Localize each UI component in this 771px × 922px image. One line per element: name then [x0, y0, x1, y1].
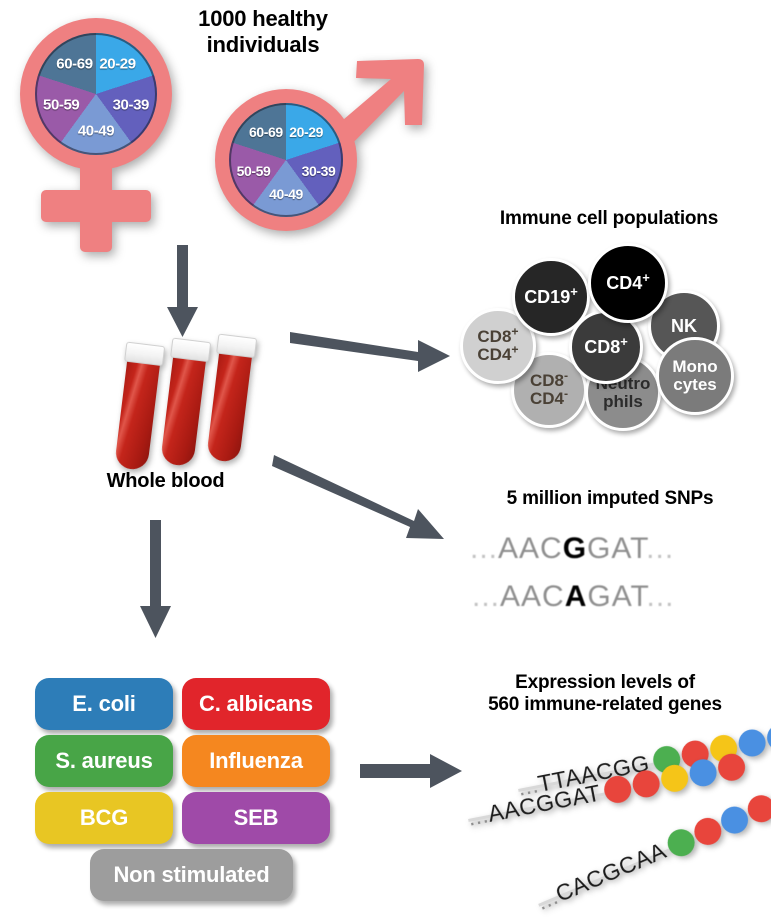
snp-sequences: ...AACGGAT......AACAGAT... [470, 532, 760, 622]
rna-bead-green [651, 744, 683, 776]
stimulant-s-aureus[interactable]: S. aureus [35, 735, 173, 787]
blood-tube-body [206, 348, 252, 463]
age-group-label-50-59: 50-59 [237, 163, 271, 179]
blood-tube-body [114, 356, 160, 471]
cohort-title-line2: individuals [207, 32, 320, 57]
rna-sequence-text: ...TTAACGG [515, 749, 653, 801]
age-group-label-20-29: 20-29 [99, 56, 135, 73]
rna-strand-backbone [468, 790, 616, 822]
rna-bead-red [743, 791, 771, 826]
stimulant-non-stimulated[interactable]: Non stimulated [90, 849, 293, 901]
rna-strand-backbone [518, 760, 666, 792]
immune-cell-label: CD4+ [606, 274, 650, 293]
blood-tube [160, 338, 208, 467]
rna-bead-blue [717, 802, 752, 837]
immune-cell-label: CD8+ [584, 338, 628, 357]
female-symbol-crossbar [41, 190, 151, 222]
age-group-label-60-69: 60-69 [249, 124, 283, 140]
rna-strand: ...CACGCAA [533, 780, 771, 916]
immune-cell-mono: Monocytes [656, 337, 734, 415]
rna-sequence-text: ...AACGGAT [465, 779, 605, 832]
male-symbol: 20-2930-3940-4950-5960-69 [205, 55, 435, 245]
blood-tube-body [160, 352, 206, 467]
rna-bead-red [602, 774, 634, 806]
immune-cell-label: CD19+ [524, 288, 578, 307]
rna-bead-yellow [707, 733, 739, 765]
age-group-label-30-39: 30-39 [302, 163, 336, 179]
rna-strand: ...TTAACGG [515, 722, 771, 802]
snp-right: GAT [587, 532, 646, 565]
immune-cell-cd19-pos: CD19+ [512, 258, 590, 336]
age-group-label-50-59: 50-59 [43, 97, 79, 114]
study-design-figure: 1000 healthy individuals 20-2930-3940-49… [0, 0, 771, 922]
arrow-stimulants-to-expression [360, 752, 475, 792]
expression-title-line1: Expression levels of [515, 672, 695, 693]
immune-cell-cd8-pos: CD8+CD4+ [460, 308, 536, 384]
female-symbol: 20-2930-3940-4950-5960-69 [10, 10, 210, 260]
immune-cell-cd4-pos: CD4+ [588, 243, 668, 323]
immune-cell-label: Monocytes [672, 358, 717, 393]
immune-cell-cd8-pos: CD8+ [569, 310, 643, 384]
blood-tube [206, 334, 254, 463]
age-group-label-60-69: 60-69 [56, 56, 92, 73]
stimulant-e-coli[interactable]: E. coli [35, 678, 173, 730]
rna-strand: ...AACGGAT [465, 751, 747, 831]
stimulant-c-albicans[interactable]: C. albicans [182, 678, 330, 730]
immune-cell-label: NK [671, 317, 697, 336]
snp-suffix: ... [647, 580, 675, 613]
rna-bead-green [663, 825, 698, 860]
snp-variant: A [565, 580, 588, 613]
stimulant-bcg[interactable]: BCG [35, 792, 173, 844]
female-age-pie: 20-2930-3940-4950-5960-69 [35, 33, 157, 155]
rna-strand-backbone [538, 845, 677, 906]
immune-populations-title: Immune cell populations [448, 208, 770, 230]
stimulant-seb[interactable]: SEB [182, 792, 330, 844]
snp-left: AAC [500, 580, 565, 613]
expression-title: Expression levels of 560 immune-related … [440, 672, 770, 717]
rna-bead-red [679, 738, 711, 770]
age-group-label-40-49: 40-49 [269, 186, 303, 202]
snp-sequence-row: ...AACAGAT... [472, 580, 675, 614]
arrow-cohort-to-blood [155, 245, 215, 345]
snp-suffix: ... [646, 532, 674, 565]
cohort-title-line1: 1000 healthy [198, 6, 328, 31]
immune-cell-label: Neutrophils [596, 375, 651, 410]
snp-left: AAC [498, 532, 563, 565]
rna-bead-red [716, 751, 748, 783]
rna-bead-red [690, 814, 725, 849]
immune-cell-cd8-neg: CD8-CD4- [511, 352, 587, 428]
immune-cell-label: CD8+CD4+ [477, 328, 518, 363]
age-group-label-30-39: 30-39 [113, 97, 149, 114]
rna-bead-blue [736, 727, 768, 759]
blood-tube [114, 342, 162, 471]
immune-cell-neutro: Neutrophils [585, 355, 661, 431]
rna-sequence-text: ...CACGCAA [533, 836, 672, 916]
rna-bead-red [630, 768, 662, 800]
snps-title: 5 million imputed SNPs [450, 488, 770, 510]
snp-prefix: ... [472, 580, 500, 613]
whole-blood-label: Whole blood [58, 470, 273, 494]
arrow-blood-to-stimulants [128, 520, 188, 645]
snp-right: GAT [587, 580, 646, 613]
arrow-blood-to-immune [290, 330, 455, 374]
age-group-label-20-29: 20-29 [289, 124, 323, 140]
immune-cell-label: CD8-CD4- [530, 372, 568, 407]
blood-tubes [108, 333, 268, 468]
rna-bead-yellow [659, 763, 691, 795]
immune-cell-nk: NK [648, 290, 720, 362]
snp-sequence-row: ...AACGGAT... [470, 532, 674, 566]
expression-title-line2: 560 immune-related genes [488, 694, 722, 715]
stimulant-influenza[interactable]: Influenza [182, 735, 330, 787]
snp-prefix: ... [470, 532, 498, 565]
rna-bead-blue [687, 757, 719, 789]
age-group-label-40-49: 40-49 [78, 122, 114, 139]
rna-bead-blue [764, 722, 771, 754]
arrow-blood-to-snps [272, 447, 462, 543]
snp-variant: G [563, 532, 587, 565]
male-age-pie: 20-2930-3940-4950-5960-69 [229, 103, 343, 217]
